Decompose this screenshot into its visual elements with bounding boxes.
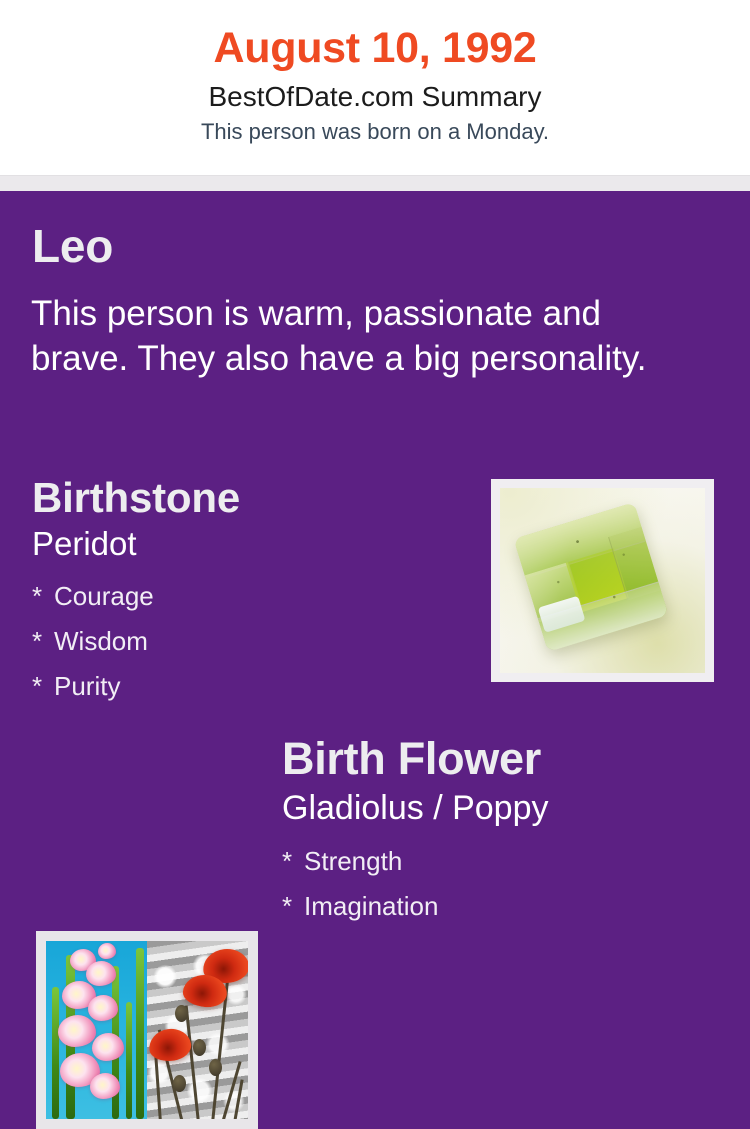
gladiolus-stem [52, 987, 59, 1119]
gladiolus-stem [136, 948, 144, 1119]
page-title-date: August 10, 1992 [0, 22, 750, 74]
birthstone-section: Birthstone Peridot *Courage *Wisdom *Pur… [32, 474, 472, 709]
bullet-star-icon: * [32, 619, 54, 664]
gladiolus-photo-half [46, 941, 147, 1119]
poppy-stem [185, 1005, 200, 1119]
birthstone-name: Peridot [32, 524, 472, 564]
gladiolus-bloom [90, 1073, 120, 1099]
birth-flower-trait-label: Strength [304, 846, 402, 876]
summary-card: August 10, 1992 BestOfDate.com Summary T… [0, 0, 750, 1000]
birth-flower-section: Birth Flower Gladiolus / Poppy *Strength… [282, 733, 732, 929]
birthstone-trait-label: Courage [54, 581, 154, 611]
birthstone-trait-label: Purity [54, 671, 120, 701]
list-item: *Imagination [282, 884, 732, 929]
birth-flower-photo-frame [36, 931, 258, 1129]
zodiac-sign-title: Leo [32, 220, 113, 272]
poppy-bud [209, 1059, 222, 1076]
list-item: *Courage [32, 574, 472, 619]
list-item: *Wisdom [32, 619, 472, 664]
gladiolus-bloom [88, 995, 118, 1021]
poppy-bud [193, 1039, 206, 1056]
gladiolus-stem [126, 1002, 132, 1119]
birth-flower-name: Gladiolus / Poppy [282, 787, 732, 829]
gladiolus-bloom [98, 943, 116, 959]
poppy-stem [154, 1051, 162, 1119]
birth-flower-trait-list: *Strength *Imagination [282, 839, 732, 929]
birthstone-trait-label: Wisdom [54, 626, 148, 656]
peridot-gemstone-photo [500, 488, 705, 673]
birthstone-heading: Birthstone [32, 474, 472, 522]
bullet-star-icon: * [32, 574, 54, 619]
gladiolus-and-poppy-photo [46, 941, 248, 1119]
born-on-day-note: This person was born on a Monday. [0, 117, 750, 147]
header: August 10, 1992 BestOfDate.com Summary T… [0, 0, 750, 175]
details-panel: Leo This person is warm, passionate and … [0, 191, 750, 1000]
gladiolus-bloom [86, 961, 116, 986]
birth-flower-heading: Birth Flower [282, 733, 732, 785]
list-item: *Strength [282, 839, 732, 884]
gladiolus-bloom [92, 1033, 124, 1061]
poppy-photo-half [147, 941, 248, 1119]
bullet-star-icon: * [32, 664, 54, 709]
header-divider [0, 175, 750, 192]
site-name-subtitle: BestOfDate.com Summary [0, 78, 750, 116]
birthstone-photo-frame [491, 479, 714, 682]
list-item: *Purity [32, 664, 472, 709]
bullet-star-icon: * [282, 884, 304, 929]
gladiolus-bloom [58, 1015, 96, 1047]
poppy-bud [173, 1075, 186, 1092]
zodiac-description: This person is warm, passionate and brav… [31, 291, 691, 381]
birth-flower-trait-label: Imagination [304, 891, 438, 921]
poppy-bud [175, 1005, 188, 1022]
birthstone-trait-list: *Courage *Wisdom *Purity [32, 574, 472, 709]
bullet-star-icon: * [282, 839, 304, 884]
